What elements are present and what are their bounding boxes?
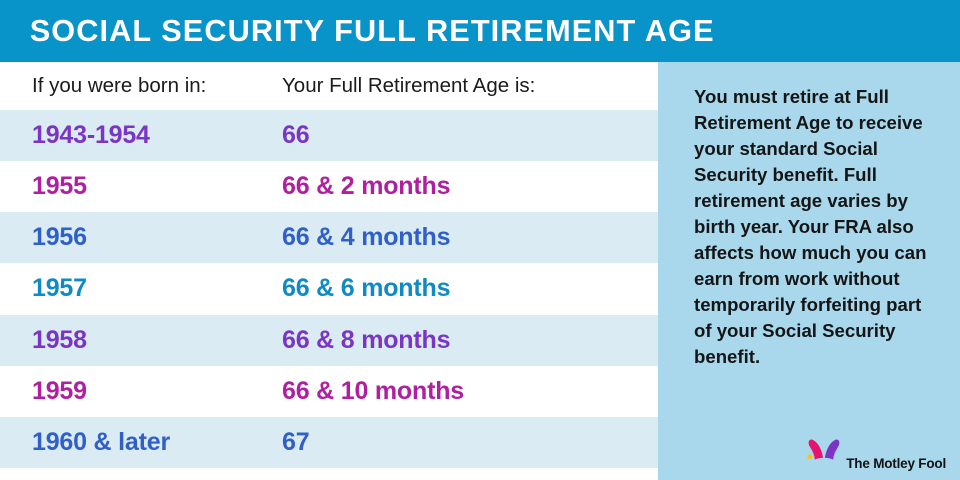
cell-full-retirement-age: 67 xyxy=(282,428,658,457)
explanation-sidebar: You must retire at Full Retirement Age t… xyxy=(658,62,960,480)
cell-full-retirement-age: 66 & 8 months xyxy=(282,326,658,355)
retirement-age-table: If you were born in: Your Full Retiremen… xyxy=(0,62,658,480)
table-row: 1957 66 & 6 months xyxy=(0,263,658,314)
sidebar-body-text: You must retire at Full Retirement Age t… xyxy=(694,84,938,370)
table-row: 1959 66 & 10 months xyxy=(0,366,658,417)
column-header-birth-year: If you were born in: xyxy=(0,74,282,98)
cell-full-retirement-age: 66 & 4 months xyxy=(282,223,658,252)
cell-birth-year: 1958 xyxy=(0,326,282,355)
cell-birth-year: 1960 & later xyxy=(0,428,282,457)
table-row: 1958 66 & 8 months xyxy=(0,315,658,366)
column-header-full-retirement-age: Your Full Retirement Age is: xyxy=(282,74,658,98)
header-bar: SOCIAL SECURITY FULL RETIREMENT AGE xyxy=(0,0,960,62)
cell-birth-year: 1957 xyxy=(0,274,282,303)
cell-birth-year: 1956 xyxy=(0,223,282,252)
cell-full-retirement-age: 66 & 2 months xyxy=(282,172,658,201)
table-row: 1960 & later 67 xyxy=(0,417,658,468)
body-wrapper: If you were born in: Your Full Retiremen… xyxy=(0,62,960,480)
brand-name-label: The Motley Fool xyxy=(846,457,946,473)
cell-birth-year: 1955 xyxy=(0,172,282,201)
table-row: 1955 66 & 2 months xyxy=(0,161,658,212)
jester-hat-icon xyxy=(804,436,844,462)
cell-full-retirement-age: 66 & 6 months xyxy=(282,274,658,303)
table-bottom-spacer xyxy=(0,468,658,480)
cell-full-retirement-age: 66 xyxy=(282,121,658,150)
cell-birth-year: 1959 xyxy=(0,377,282,406)
cell-full-retirement-age: 66 & 10 months xyxy=(282,377,658,406)
table-header-row: If you were born in: Your Full Retiremen… xyxy=(0,62,658,110)
page-title: SOCIAL SECURITY FULL RETIREMENT AGE xyxy=(0,13,715,49)
cell-birth-year: 1943-1954 xyxy=(0,121,282,150)
table-row: 1956 66 & 4 months xyxy=(0,212,658,263)
infographic-root: SOCIAL SECURITY FULL RETIREMENT AGE If y… xyxy=(0,0,960,480)
table-row: 1943-1954 66 xyxy=(0,110,658,161)
motley-fool-logo: The Motley Fool xyxy=(834,436,946,472)
